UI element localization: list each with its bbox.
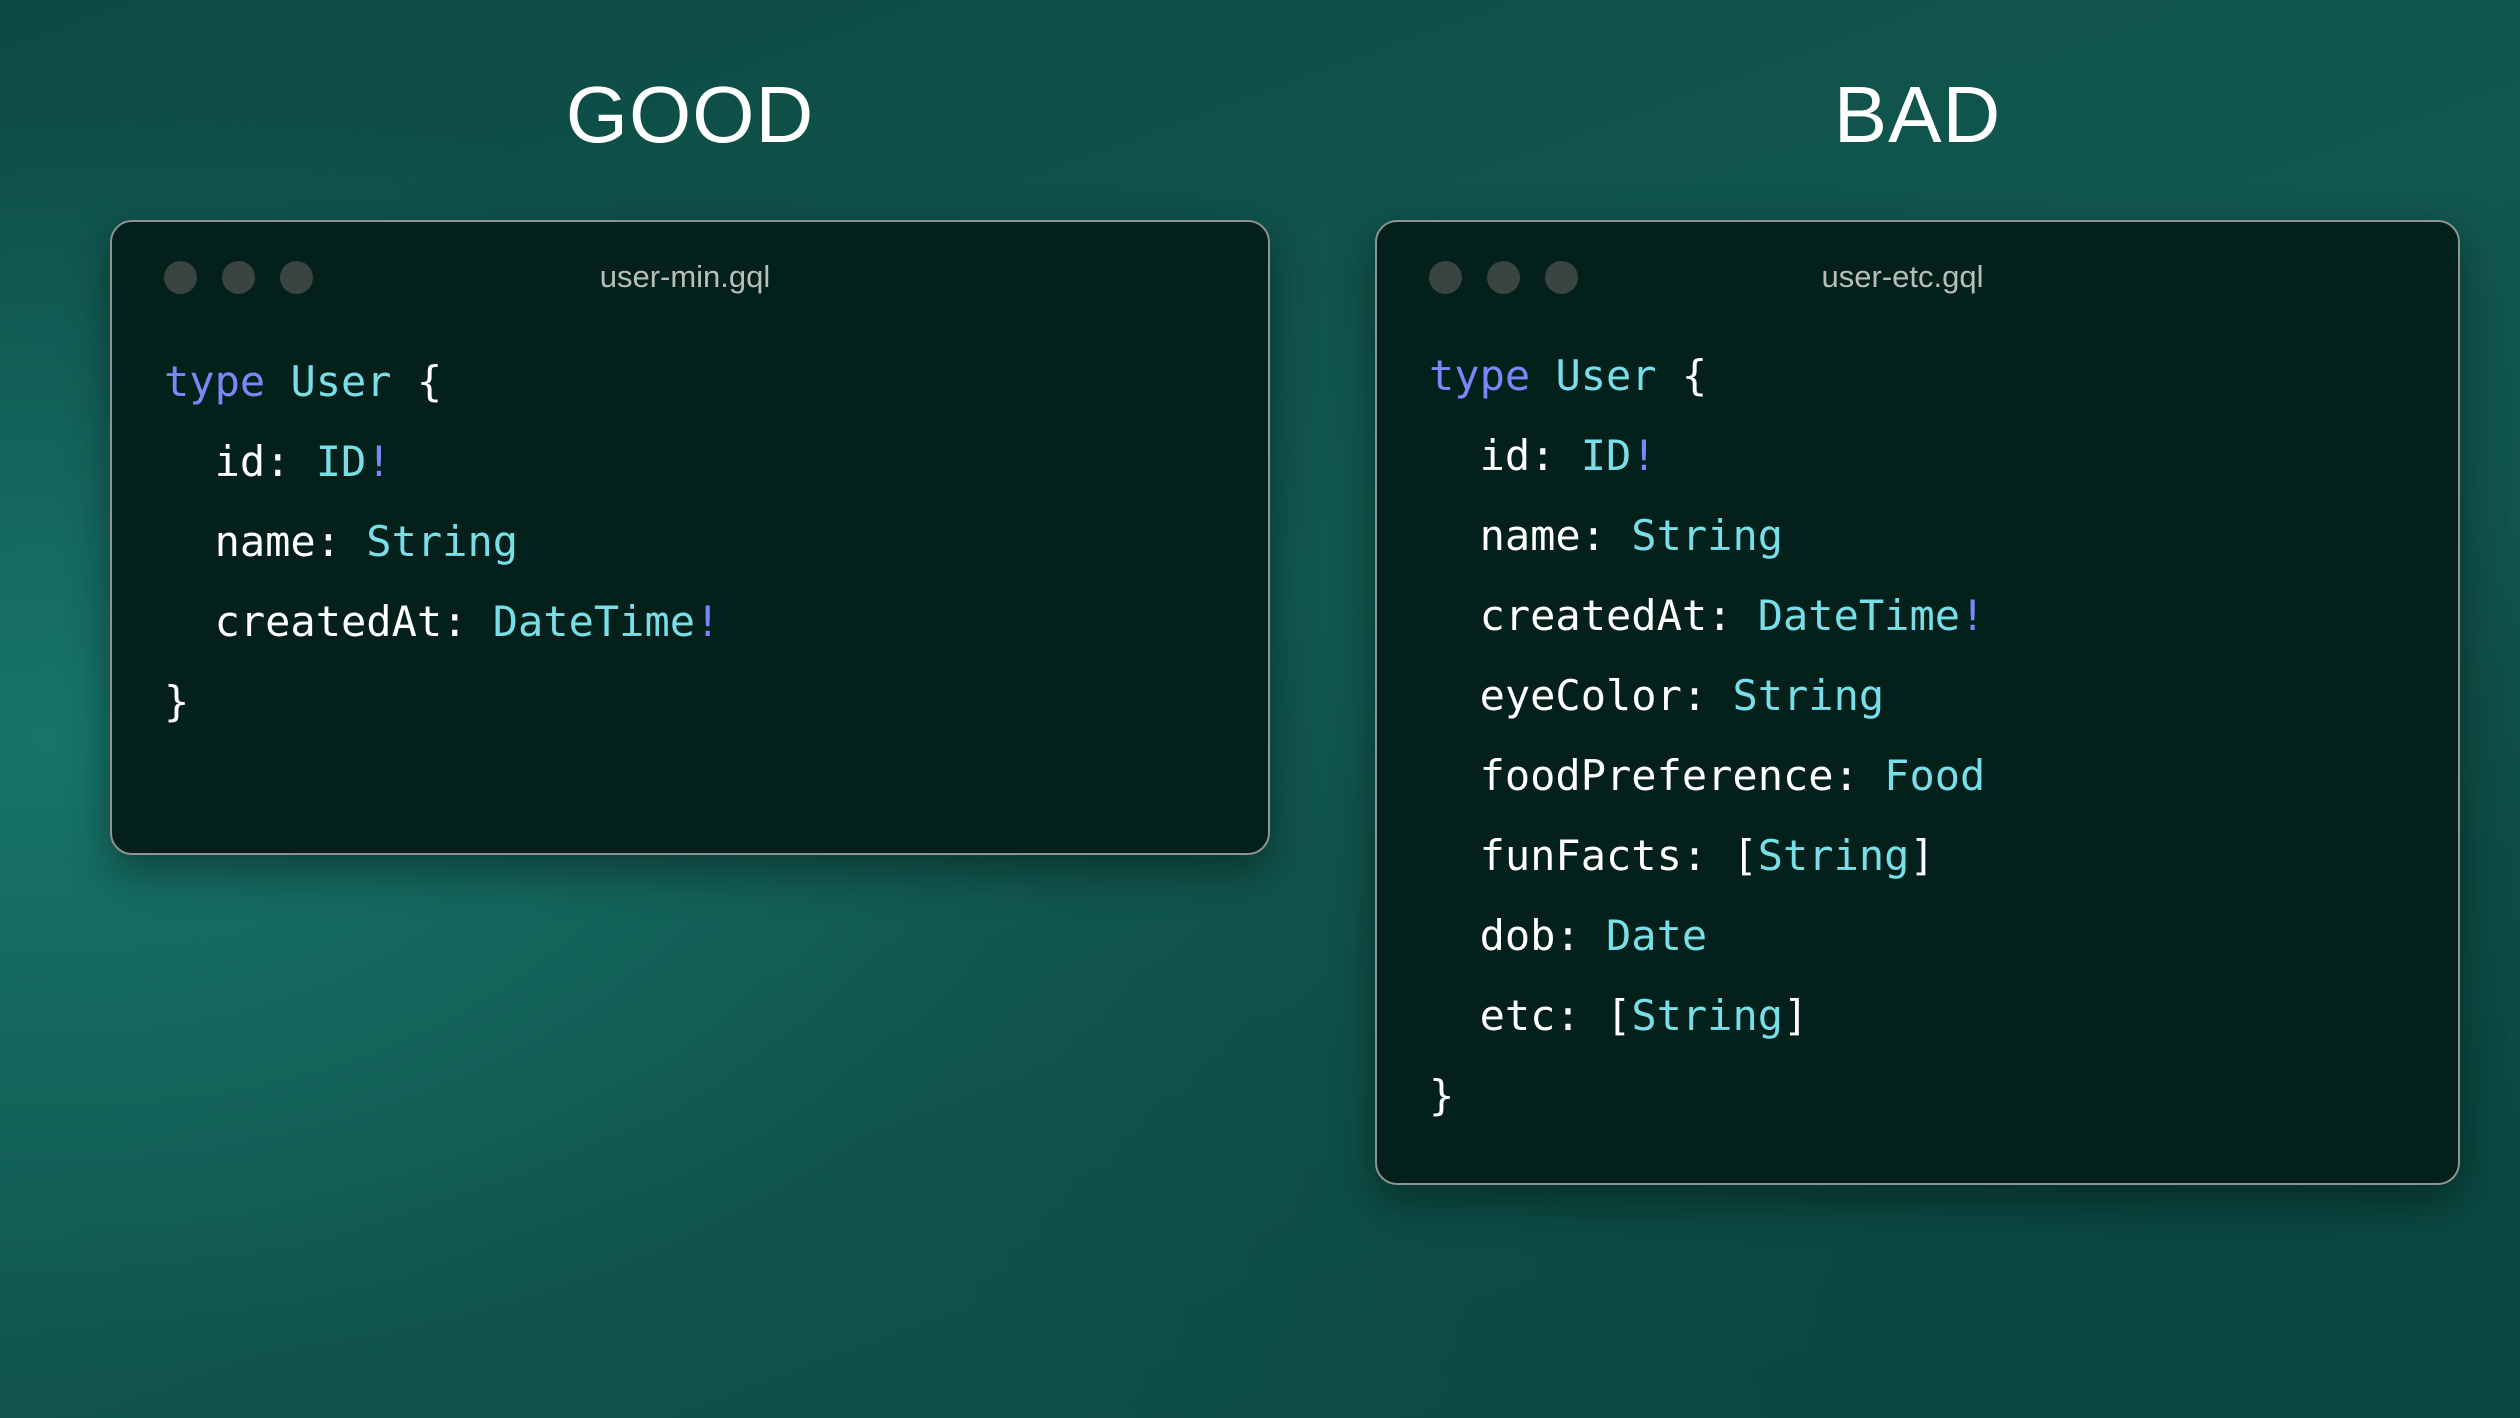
code-line: dob: Date xyxy=(1429,896,2458,976)
code-line: type User { xyxy=(1429,336,2458,416)
code-token-punct: [ xyxy=(1606,991,1631,1040)
window-titlebar-bad: user-etc.gql xyxy=(1377,222,2458,332)
code-token-type: Food xyxy=(1884,751,1985,800)
code-token-type: DateTime xyxy=(493,597,695,646)
code-token-punct: ] xyxy=(1909,831,1934,880)
code-line: } xyxy=(1429,1056,2458,1136)
code-line: createdAt: DateTime! xyxy=(1429,576,2458,656)
code-token-field: name: xyxy=(1429,511,1631,560)
code-token-field: dob: xyxy=(1429,911,1606,960)
code-line: createdAt: DateTime! xyxy=(164,582,1268,662)
window-dot-minimize-icon[interactable] xyxy=(1487,261,1520,294)
code-line: etc: [String] xyxy=(1429,976,2458,1056)
code-token-type: User xyxy=(290,357,416,406)
code-line: name: String xyxy=(164,502,1268,582)
code-token-type: String xyxy=(1631,991,1783,1040)
code-token-type: ID xyxy=(1581,431,1632,480)
code-token-type: String xyxy=(1732,671,1884,720)
code-token-type: Date xyxy=(1606,911,1707,960)
code-window-bad: user-etc.gql type User { id: ID! name: S… xyxy=(1375,220,2460,1185)
window-dot-minimize-icon[interactable] xyxy=(222,261,255,294)
window-dot-close-icon[interactable] xyxy=(1429,261,1462,294)
code-token-type: User xyxy=(1555,351,1681,400)
code-line: } xyxy=(164,662,1268,742)
code-token-type: String xyxy=(1758,831,1910,880)
code-token-field: name: xyxy=(164,517,366,566)
code-token-bang: ! xyxy=(1631,431,1656,480)
code-token-field: etc: xyxy=(1429,991,1606,1040)
window-controls-good xyxy=(164,261,313,294)
comparison-stage: GOOD user-min.gql type User { id: ID! na… xyxy=(0,0,2520,1418)
code-token-bang: ! xyxy=(1960,591,1985,640)
heading-bad: BAD xyxy=(1375,75,2460,155)
window-controls-bad xyxy=(1429,261,1578,294)
code-line: id: ID! xyxy=(164,422,1268,502)
code-token-field: createdAt: xyxy=(1429,591,1758,640)
code-token-type: String xyxy=(1631,511,1783,560)
code-token-punct: } xyxy=(164,677,189,726)
code-token-kw: type xyxy=(1429,351,1555,400)
code-line: eyeColor: String xyxy=(1429,656,2458,736)
code-token-punct: } xyxy=(1429,1071,1454,1120)
code-token-type: ID xyxy=(316,437,367,486)
code-block-bad: type User { id: ID! name: String created… xyxy=(1377,332,2458,1136)
code-token-kw: type xyxy=(164,357,290,406)
code-block-good: type User { id: ID! name: String created… xyxy=(112,332,1268,742)
code-token-field: eyeColor: xyxy=(1429,671,1732,720)
code-token-field: id: xyxy=(164,437,316,486)
code-line: funFacts: [String] xyxy=(1429,816,2458,896)
code-token-punct: ] xyxy=(1783,991,1808,1040)
code-token-punct: { xyxy=(417,357,442,406)
window-dot-maximize-icon[interactable] xyxy=(280,261,313,294)
heading-good: GOOD xyxy=(110,75,1270,155)
code-token-field: funFacts: xyxy=(1429,831,1732,880)
code-token-type: String xyxy=(366,517,518,566)
code-line: id: ID! xyxy=(1429,416,2458,496)
window-dot-close-icon[interactable] xyxy=(164,261,197,294)
code-token-punct: [ xyxy=(1732,831,1757,880)
window-dot-maximize-icon[interactable] xyxy=(1545,261,1578,294)
code-token-field: id: xyxy=(1429,431,1581,480)
code-token-bang: ! xyxy=(695,597,720,646)
code-window-good: user-min.gql type User { id: ID! name: S… xyxy=(110,220,1270,855)
code-token-bang: ! xyxy=(366,437,391,486)
code-token-type: DateTime xyxy=(1758,591,1960,640)
code-token-field: foodPreference: xyxy=(1429,751,1884,800)
code-token-field: createdAt: xyxy=(164,597,493,646)
code-line: name: String xyxy=(1429,496,2458,576)
code-line: foodPreference: Food xyxy=(1429,736,2458,816)
window-titlebar-good: user-min.gql xyxy=(112,222,1268,332)
code-token-punct: { xyxy=(1682,351,1707,400)
code-line: type User { xyxy=(164,342,1268,422)
